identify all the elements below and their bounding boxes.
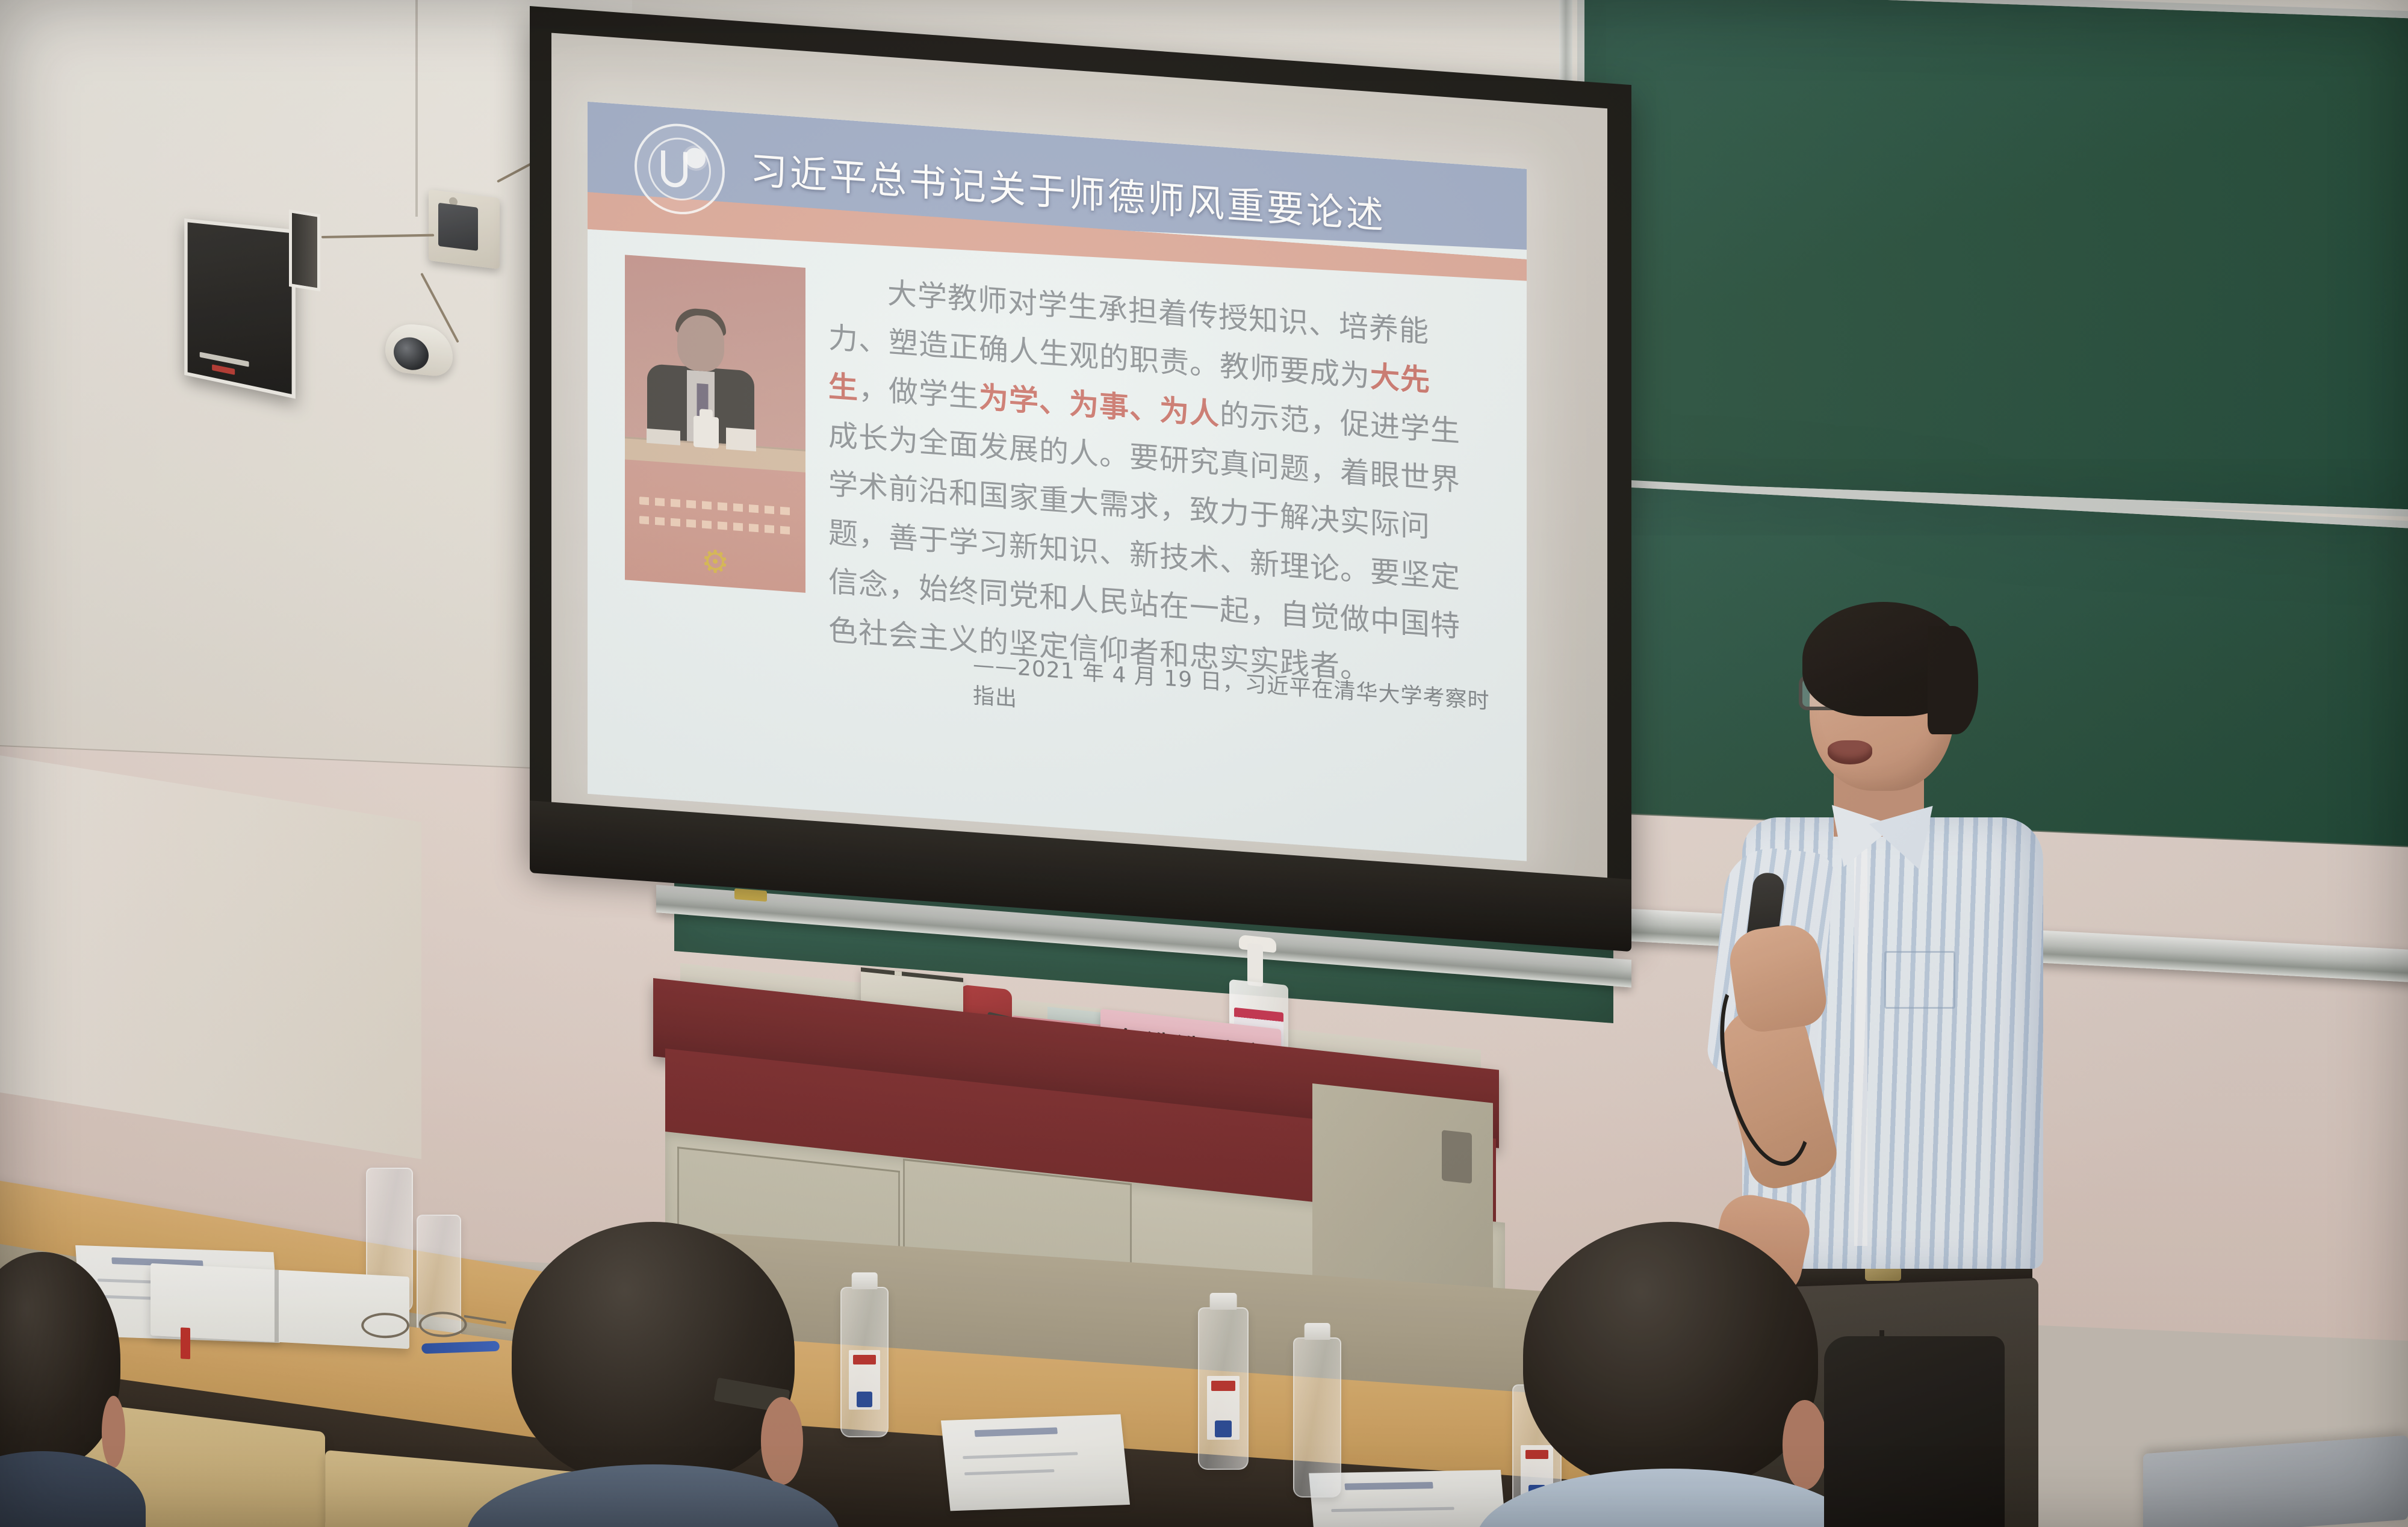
- photo-caption-line-2: [639, 516, 791, 534]
- water-bottle-center-c: [1293, 1337, 1341, 1498]
- audience-ear: [761, 1397, 804, 1485]
- bottle-cap: [1305, 1323, 1330, 1340]
- bottle-label: [849, 1350, 880, 1409]
- speaker-brand-accent: [212, 364, 235, 375]
- photo-paper-right: [726, 428, 756, 452]
- emblem-sun: [685, 147, 706, 169]
- camera-lens: [394, 336, 429, 372]
- sensor-box-icon: [429, 190, 500, 269]
- emblem-glyph: [661, 150, 687, 188]
- wall-speaker-icon: [184, 218, 296, 399]
- paper-text-line: [1331, 1507, 1454, 1513]
- notebook-spine: [275, 1270, 279, 1342]
- slide-body-run: ，做学生: [858, 371, 979, 414]
- photo-paper-left: [647, 429, 680, 445]
- podium-vent-slot: [1442, 1130, 1472, 1183]
- presenter-hand: [1726, 921, 1829, 1035]
- wall-left-lower: [0, 755, 421, 1159]
- paper-title-line: [1344, 1482, 1433, 1490]
- presenter-shirt-pocket: [1884, 951, 1955, 1009]
- water-bottle-center-a: [840, 1287, 889, 1437]
- desk-glasses-lens-right: [418, 1312, 468, 1337]
- bottle-cap: [852, 1272, 878, 1289]
- presenter-shirt-placket: [1854, 849, 1867, 1246]
- party-emblem-icon: ⚙: [697, 546, 733, 578]
- desk-glasses-lens-left: [360, 1312, 410, 1338]
- chalkboard-upper-right: [1577, 0, 2408, 518]
- projection-screen-surface: 习近平总书记关于师德师风重要论述 ⚙ 大学教师对学生承担着传: [551, 33, 1607, 902]
- wall-corner-seam: [415, 0, 418, 217]
- sensor-lens: [438, 203, 478, 251]
- audience-ear: [102, 1396, 125, 1468]
- presenter-hair-side: [1928, 626, 1978, 734]
- presenter-mouth: [1828, 740, 1872, 764]
- eyeglasses-on-desk-icon: [360, 1311, 488, 1341]
- audience-member-right: [1523, 1222, 1818, 1527]
- emblem-inner-ring: [648, 135, 711, 202]
- monitor-bottom-right: [2143, 1436, 2408, 1527]
- audience-ear: [1783, 1400, 1827, 1489]
- water-bottle-center-b: [1198, 1307, 1249, 1470]
- sanitizer-pump-stem: [1247, 943, 1263, 987]
- paper-text-line: [964, 1469, 1055, 1475]
- bottle-cap: [1210, 1293, 1237, 1310]
- notebook-ribbon: [181, 1327, 190, 1359]
- photo-tea-cup: [694, 416, 719, 449]
- lecture-hall-photo: 习近平总书记关于师德师风重要论述 ⚙ 大学教师对学生承担着传: [0, 0, 2408, 1527]
- slide-photo: ⚙: [625, 255, 805, 593]
- presentation-slide: 习近平总书记关于师德师风重要论述 ⚙ 大学教师对学生承担着传: [588, 102, 1527, 861]
- bottle-label: [1207, 1376, 1240, 1440]
- speaker-mount-bracket: [289, 209, 320, 291]
- slide-body-text: 大学教师对学生承担着传授知识、培养能力、塑造正确人生观的职责。教师要成为大先生，…: [828, 265, 1485, 702]
- speaker-brand-mark: [200, 352, 249, 367]
- audience-member-far-right-dark: [1824, 1336, 2005, 1527]
- slide-body-highlight: 为学、为事、为人: [979, 380, 1220, 432]
- audience-member-center: [512, 1222, 795, 1527]
- paper-text-line: [963, 1452, 1078, 1459]
- paper-title-line: [975, 1427, 1058, 1437]
- paper-sheet-center: [941, 1414, 1130, 1511]
- audience-head: [512, 1222, 795, 1485]
- audience-member-left: [0, 1252, 120, 1527]
- photo-caption-line-1: [639, 497, 791, 515]
- slide-body-run: 的示范，促进学生成长为全面发展的人。要研究真问题，着眼世界学术前沿和国家重大需求…: [828, 397, 1460, 686]
- projection-screen-frame: 习近平总书记关于师德师风重要论述 ⚙ 大学教师对学生承担着传: [530, 6, 1631, 940]
- audience-head: [1523, 1222, 1818, 1490]
